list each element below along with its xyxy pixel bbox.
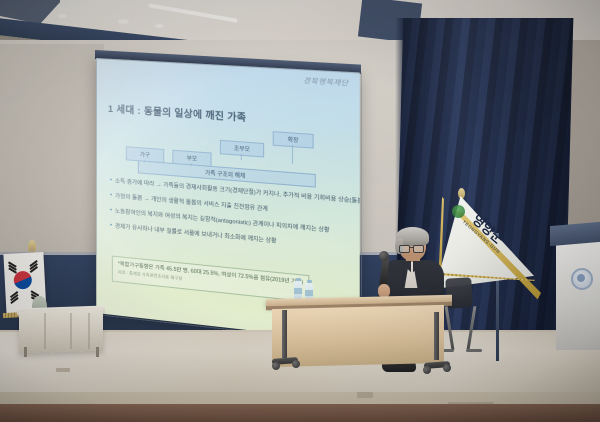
desk-wheel	[423, 366, 431, 374]
slide-bullet-list: ▪ 소득 증가에 따라 → 가족들의 경제사회활동 크기(경제단절)가 커지나,…	[110, 177, 349, 260]
diagram-box: 조부모	[220, 140, 264, 158]
eyeglasses-bridge	[409, 247, 413, 248]
chair-foot	[466, 349, 482, 352]
desk-leg	[282, 310, 287, 358]
diagram-connector	[241, 154, 242, 160]
ceiling-light-icon	[58, 14, 67, 18]
desk-wheel	[443, 364, 451, 372]
water-bottle-cap	[307, 280, 312, 283]
lectern-emblem-icon	[571, 268, 593, 290]
ceiling-light-icon	[155, 24, 164, 28]
ceiling-light-icon	[118, 19, 129, 24]
bullet-dot-icon: ▪	[110, 223, 112, 231]
floor-panel-marker	[56, 368, 70, 372]
bullet-dot-icon: ▪	[110, 207, 112, 215]
side-table-pleat	[88, 313, 90, 349]
side-table-pleat	[44, 313, 46, 349]
presenter-desk-modesty-panel	[272, 305, 444, 367]
desk-leg	[434, 312, 439, 360]
auditorium-photo: 경북행복재단 1 세대 : 동물의 일상에 깨진 가족 가구 부모 조부모 확장…	[0, 0, 600, 422]
side-table-leg	[24, 347, 27, 357]
side-table-leg	[96, 347, 99, 357]
diagram-connector	[292, 145, 293, 164]
bullet-dot-icon: ▪	[110, 192, 112, 200]
eyeglasses-icon	[413, 245, 424, 253]
desk-wheel	[272, 362, 280, 370]
slide-note-box: *복합가구동향은 가족 45.5만 명, 60대 25.5%, 여성이 72.5…	[112, 256, 309, 303]
floor-panel-marker	[357, 392, 373, 398]
slide-diagram: 가구 부모 조부모 확장 가족 구조의 해체	[126, 120, 330, 189]
water-bottle-label	[294, 288, 302, 294]
diagram-box: 확장	[273, 131, 314, 149]
ceiling-light-strip	[148, 3, 237, 23]
slide-logo: 경북행복재단	[303, 76, 349, 89]
water-bottle-label	[305, 290, 313, 296]
desk-wheel	[292, 360, 300, 368]
bullet-dot-icon: ▪	[110, 177, 112, 185]
lectern	[556, 242, 600, 350]
water-bottle-cap	[296, 278, 301, 281]
stage-front-edge	[0, 404, 600, 422]
side-table-pleat	[70, 313, 72, 349]
side-table-skirt	[19, 309, 103, 354]
microphone-head-icon	[379, 251, 389, 261]
